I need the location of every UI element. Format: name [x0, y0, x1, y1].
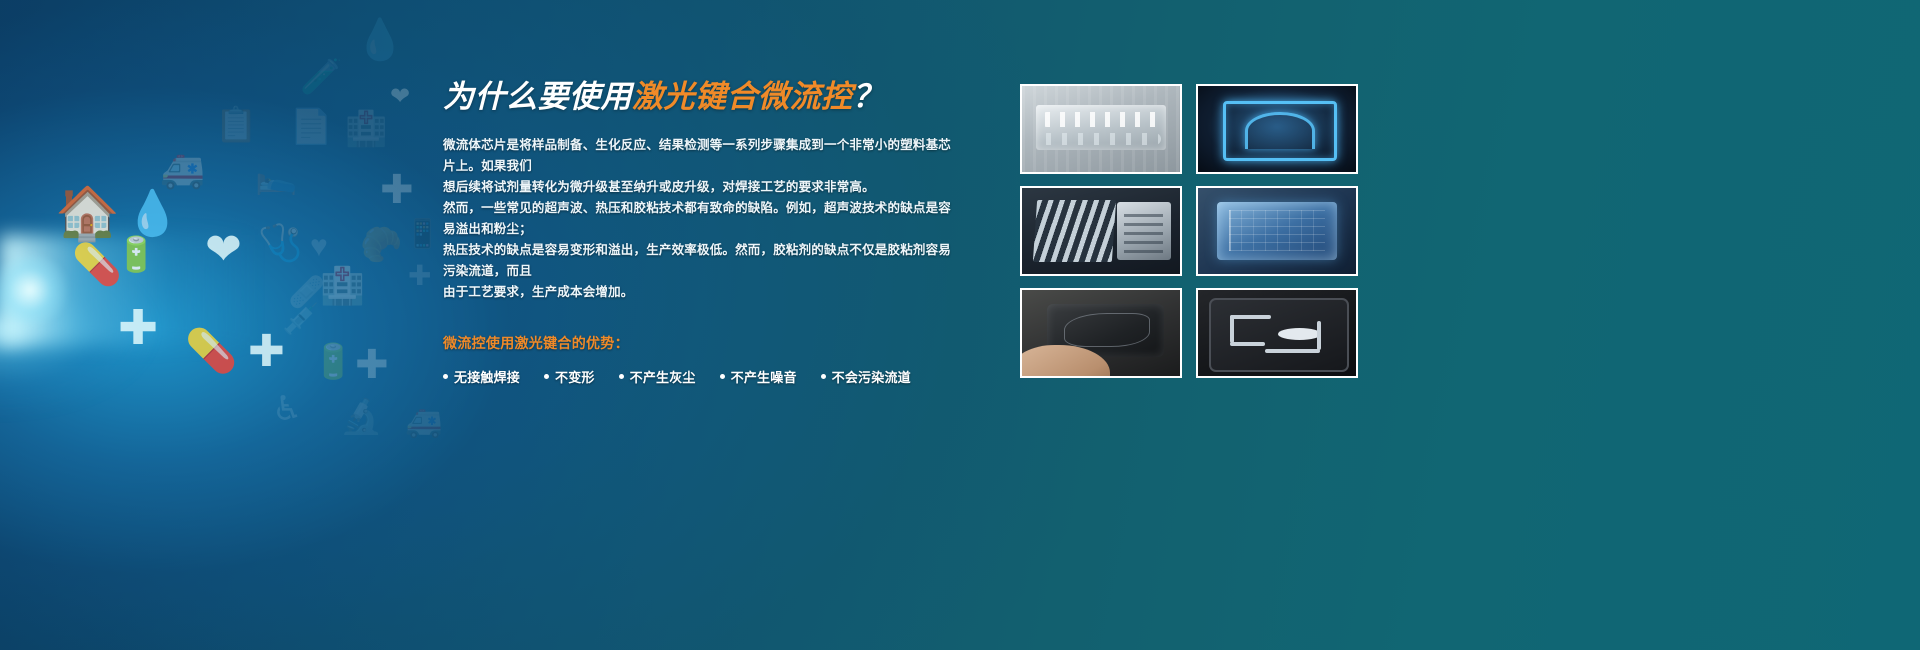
page-title-highlight: 激光键合微流控: [632, 79, 853, 114]
bullet-dot-icon: [443, 374, 448, 379]
paragraph-line: 微流体芯片是将样品制备、生化反应、结果检测等一系列步骤集成到一个非常小的塑料基芯…: [443, 135, 963, 177]
ecg-line-icon: ♥: [310, 232, 328, 262]
wheelchair-icon: ♿: [272, 392, 302, 426]
kidney-icon: 🥐: [360, 228, 402, 262]
medical-icon-field: 💧 🧪 📋 🏥 📄 ❤ 🚑 🛌 ✚ 🏠 💧 ❤ 🩺 ♥ 🥐 💊 🔋 🩹 💉 🏥 …: [0, 0, 480, 650]
gallery-image-black-chip-in-hand[interactable]: black-chip-in-hand: [1020, 288, 1182, 378]
intro-paragraph: 微流体芯片是将样品制备、生化反应、结果检测等一系列步骤集成到一个非常小的塑料基芯…: [443, 135, 963, 303]
promo-banner: 💧 🧪 📋 🏥 📄 ❤ 🚑 🛌 ✚ 🏠 💧 ❤ 🩺 ♥ 🥐 💊 🔋 🩹 💉 🏥 …: [0, 0, 1920, 650]
medical-cross-icon-a: ✚: [380, 170, 414, 210]
pill-icon: 💊: [72, 245, 122, 285]
battery-group-icon: 🔋: [115, 238, 157, 272]
stethoscope-icon: 🩺: [258, 225, 303, 261]
well-row-bottom: [1041, 133, 1161, 145]
channel-segment: [1230, 315, 1234, 343]
bullet-label: 不变形: [555, 367, 595, 386]
ambulance-small-icon: 🚑: [405, 408, 442, 438]
paragraph-line: 然而，一些常见的超声波、热压和胶粘技术都有致命的缺陷。例如，超声波技术的缺点是容…: [443, 198, 963, 240]
bullet-dot-icon: [544, 374, 549, 379]
page-title-white-prefix: 为什么要使用: [443, 79, 632, 114]
heart-rate-icon: ❤: [205, 228, 242, 272]
bullet-label: 不产生噪音: [731, 367, 797, 386]
cartridge-frame: [1209, 298, 1349, 373]
pharmacy-cross-icon: ✚: [248, 330, 285, 374]
gallery-image-microfluidic-chip-wells[interactable]: microfluidic-chip-wells: [1020, 84, 1182, 174]
serpentine-inner: [1245, 112, 1314, 149]
tablet-icon: 📱: [405, 220, 440, 248]
paragraph-line: 由于工艺要求，生产成本会增加。: [443, 282, 963, 303]
bullet-label: 不会污染流道: [832, 367, 911, 386]
bed-icon: 🛌: [255, 160, 297, 194]
list-item: 不产生灰尘: [619, 367, 696, 386]
reservoir-oval: [1278, 328, 1321, 340]
gallery-image-blue-manifold[interactable]: blue-transparent-manifold: [1196, 186, 1358, 276]
first-aid-cross-icon: ✚: [118, 305, 158, 353]
paragraph-line: 想后续将试剂量转化为微升级甚至纳升或皮升级，对焊接工艺的要求非常高。: [443, 177, 963, 198]
paragraph-line: 热压技术的缺点是容易变形和溢出，生产效率极低。然而，胶粘剂的缺点不仅是胶粘剂容易…: [443, 240, 963, 282]
light-source-dot: [0, 255, 70, 325]
gallery-image-black-cartridge[interactable]: black-cartridge-channels: [1196, 288, 1358, 378]
list-item: 不变形: [544, 367, 595, 386]
page-title: 为什么要使用激光键合微流控？: [443, 78, 963, 117]
lab-flask-icon: 💧: [125, 192, 180, 236]
heart-pulse-icon: ❤: [390, 85, 410, 109]
transparent-block: [1217, 202, 1337, 260]
light-cone-glow: [0, 180, 380, 480]
bullet-label: 不产生灰尘: [630, 367, 696, 386]
house-plus-icon: 🏠: [55, 188, 120, 240]
chip-slab: [1117, 202, 1171, 260]
hospital-plus-icon: 🏥: [320, 268, 365, 304]
battery-icon: 🔋: [312, 345, 354, 379]
list-item: 无接触焊接: [443, 367, 520, 386]
channel-segment: [1317, 321, 1321, 351]
channel-segment: [1230, 315, 1271, 319]
channel-segment: [1265, 349, 1319, 353]
microscope-icon: 🔬: [340, 400, 382, 434]
ambulance-icon: 🚑: [160, 152, 205, 188]
list-item: 不产生噪音: [720, 367, 797, 386]
page-title-question-mark: ？: [853, 79, 885, 114]
clipboard-icon: 📋: [215, 108, 257, 142]
banner-text-column: 为什么要使用激光键合微流控？ 微流体芯片是将样品制备、生化反应、结果检测等一系列…: [443, 78, 963, 386]
bullet-dot-icon: [619, 374, 624, 379]
product-image-gallery: microfluidic-chip-wells serpentine-chann…: [1020, 84, 1358, 378]
advantages-subheading: 微流控使用激光键合的优势：: [443, 333, 963, 353]
gallery-image-striped-chip-array[interactable]: striped-chip-array: [1020, 186, 1182, 276]
syringe-icon: 💉: [282, 305, 319, 335]
test-tube-icon: 🧪: [300, 60, 342, 94]
gallery-image-serpentine-channel[interactable]: serpentine-channel-blue-glow: [1196, 84, 1358, 174]
plus-sign-icon: ✚: [355, 345, 389, 385]
bandage-icon: 🩹: [288, 278, 325, 308]
advantages-bullet-list: 无接触焊接 不变形 不产生灰尘 不产生噪音 不会污染流道: [443, 367, 963, 386]
light-beam: [0, 235, 260, 345]
document-icon: 📄: [290, 110, 332, 144]
channel-segment: [1230, 342, 1265, 346]
bullet-dot-icon: [821, 374, 826, 379]
well-row-top: [1041, 112, 1161, 127]
bullet-label: 无接触焊接: [454, 367, 520, 386]
cross-small-icon: ✚: [408, 262, 431, 290]
list-item: 不会污染流道: [821, 367, 911, 386]
striped-strips: [1032, 200, 1115, 262]
bullet-dot-icon: [720, 374, 725, 379]
flask-icon: 💧: [355, 20, 405, 60]
hospital-building-icon: 🏥: [345, 112, 387, 146]
medkit-icon: 💊: [185, 330, 237, 372]
